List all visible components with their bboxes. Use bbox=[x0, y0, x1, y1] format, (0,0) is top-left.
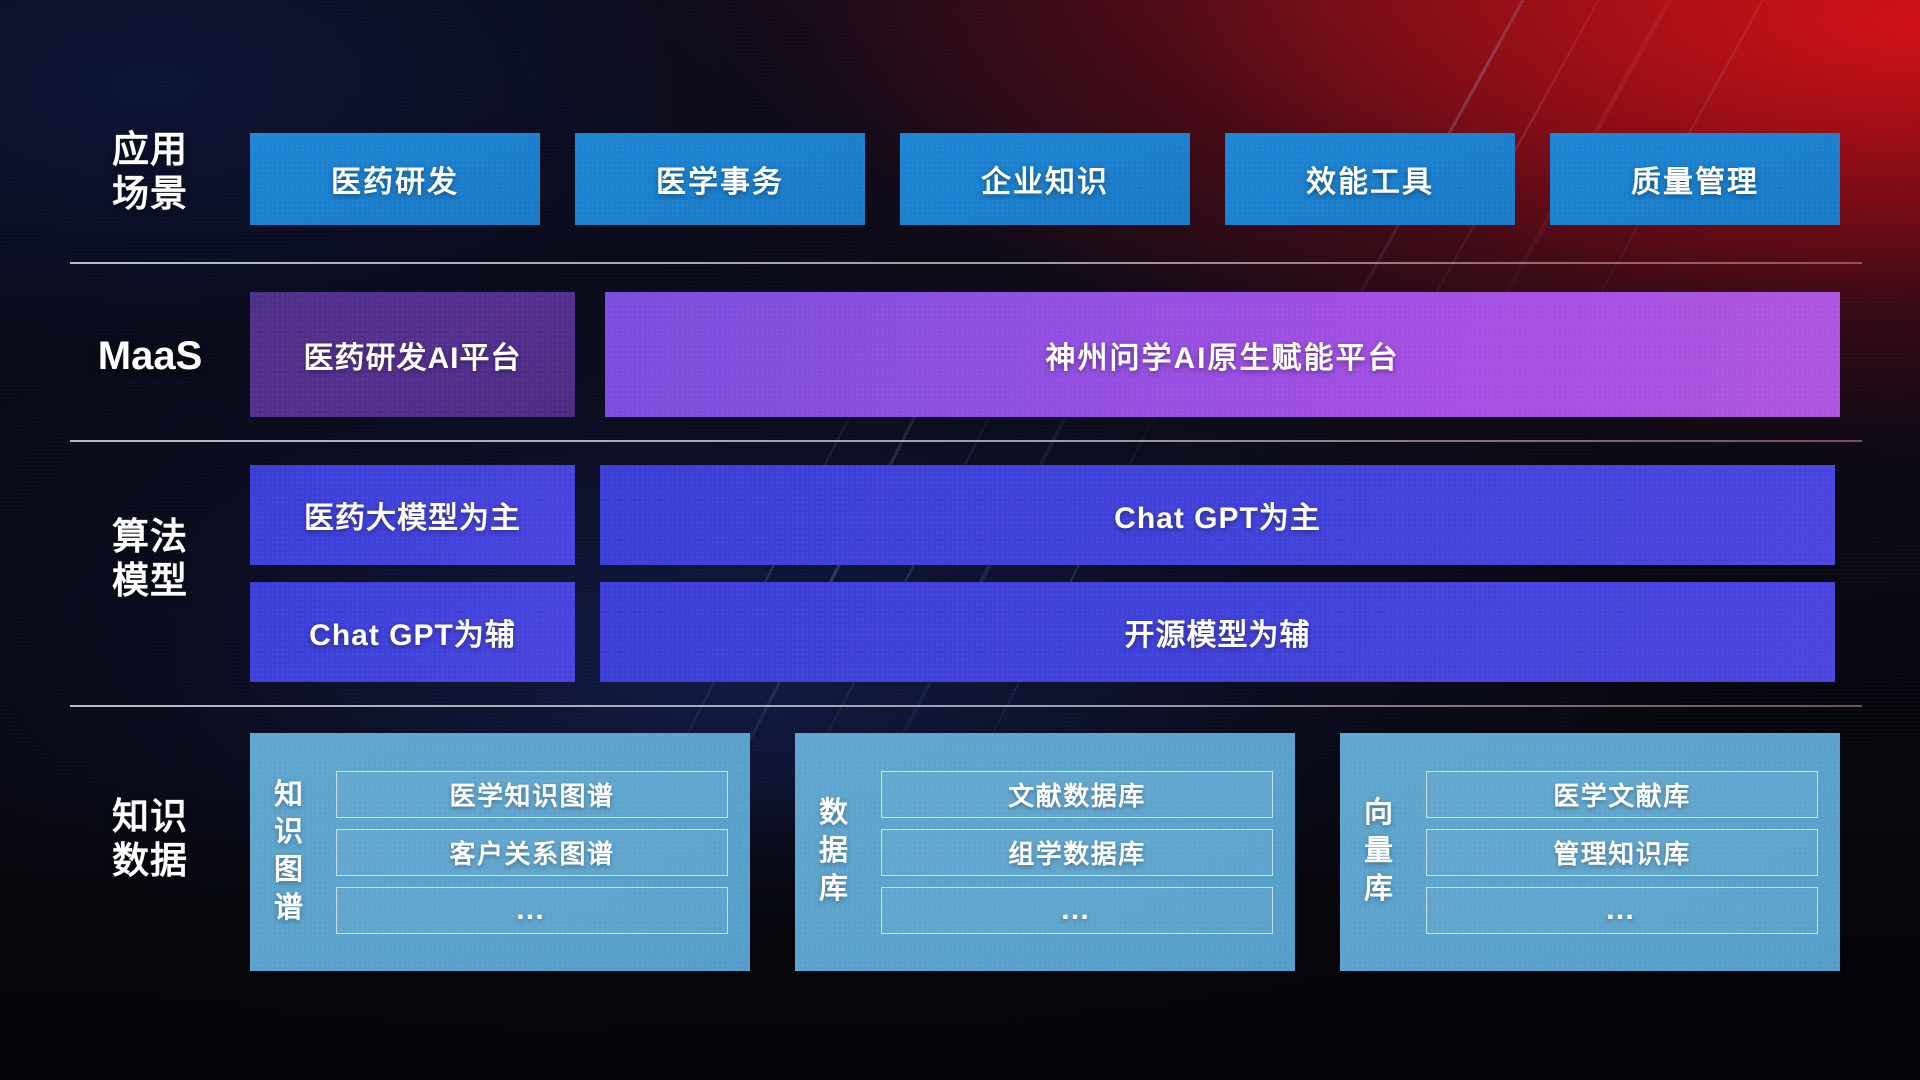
knowledge-group-side-label-text: 知识图谱 bbox=[274, 777, 304, 928]
knowledge-group-0[interactable]: 知识图谱 医学知识图谱 客户关系图谱 … bbox=[250, 733, 750, 971]
app-card-4[interactable]: 质量管理 bbox=[1550, 133, 1840, 225]
knowledge-item-more[interactable]: … bbox=[1426, 887, 1818, 934]
knowledge-group-2[interactable]: 向量库 医学文献库 管理知识库 … bbox=[1340, 733, 1840, 971]
row-label-knowledge: 知识 数据 bbox=[70, 795, 230, 882]
app-card-label: 医学事务 bbox=[656, 157, 784, 201]
app-card-0[interactable]: 医药研发 bbox=[250, 133, 540, 225]
knowledge-item[interactable]: 管理知识库 bbox=[1426, 829, 1818, 876]
row-divider-maas bbox=[70, 440, 1862, 442]
knowledge-item[interactable]: 医学文献库 bbox=[1426, 771, 1818, 818]
knowledge-group-side-label-text: 向量库 bbox=[1364, 795, 1394, 908]
app-card-1[interactable]: 医学事务 bbox=[575, 133, 865, 225]
row-label-application: 应用 场景 bbox=[70, 128, 230, 215]
app-card-label: 效能工具 bbox=[1306, 157, 1434, 201]
knowledge-item-list: 医学文献库 管理知识库 … bbox=[1418, 757, 1840, 948]
algorithm-card-label: Chat GPT为辅 bbox=[309, 610, 516, 654]
app-card-label: 医药研发 bbox=[331, 157, 459, 201]
knowledge-item-more[interactable]: … bbox=[881, 887, 1273, 934]
knowledge-group-1[interactable]: 数据库 文献数据库 组学数据库 … bbox=[795, 733, 1295, 971]
app-card-3[interactable]: 效能工具 bbox=[1225, 133, 1515, 225]
maas-left-card[interactable]: 医药研发AI平台 bbox=[250, 292, 575, 417]
app-card-label: 企业知识 bbox=[981, 157, 1109, 201]
algorithm-card-label: 医药大模型为主 bbox=[304, 493, 521, 537]
knowledge-item-list: 医学知识图谱 客户关系图谱 … bbox=[328, 757, 750, 948]
knowledge-item-more[interactable]: … bbox=[336, 887, 728, 934]
algorithm-card-label: 开源模型为辅 bbox=[1125, 610, 1311, 654]
knowledge-item[interactable]: 文献数据库 bbox=[881, 771, 1273, 818]
knowledge-item[interactable]: 组学数据库 bbox=[881, 829, 1273, 876]
algorithm-card-label: Chat GPT为主 bbox=[1114, 493, 1321, 537]
algorithm-left-card-1[interactable]: Chat GPT为辅 bbox=[250, 582, 575, 682]
algorithm-right-card-0[interactable]: Chat GPT为主 bbox=[600, 465, 1835, 565]
knowledge-group-side-label-text: 数据库 bbox=[819, 795, 849, 908]
maas-right-card[interactable]: 神州问学AI原生赋能平台 bbox=[605, 292, 1840, 417]
row-divider-algorithm bbox=[70, 705, 1862, 707]
maas-left-card-label: 医药研发AI平台 bbox=[304, 333, 522, 377]
row-label-maas: MaaS bbox=[70, 333, 230, 380]
app-card-2[interactable]: 企业知识 bbox=[900, 133, 1190, 225]
knowledge-group-side-label: 数据库 bbox=[795, 795, 873, 908]
row-divider-application bbox=[70, 262, 1862, 264]
knowledge-item-list: 文献数据库 组学数据库 … bbox=[873, 757, 1295, 948]
app-card-label: 质量管理 bbox=[1631, 157, 1759, 201]
knowledge-item[interactable]: 医学知识图谱 bbox=[336, 771, 728, 818]
row-label-algorithm: 算法 模型 bbox=[70, 515, 230, 602]
knowledge-group-side-label: 知识图谱 bbox=[250, 777, 328, 928]
algorithm-right-card-1[interactable]: 开源模型为辅 bbox=[600, 582, 1835, 682]
algorithm-left-card-0[interactable]: 医药大模型为主 bbox=[250, 465, 575, 565]
maas-right-card-label: 神州问学AI原生赋能平台 bbox=[1046, 333, 1400, 377]
knowledge-item[interactable]: 客户关系图谱 bbox=[336, 829, 728, 876]
knowledge-group-side-label: 向量库 bbox=[1340, 795, 1418, 908]
